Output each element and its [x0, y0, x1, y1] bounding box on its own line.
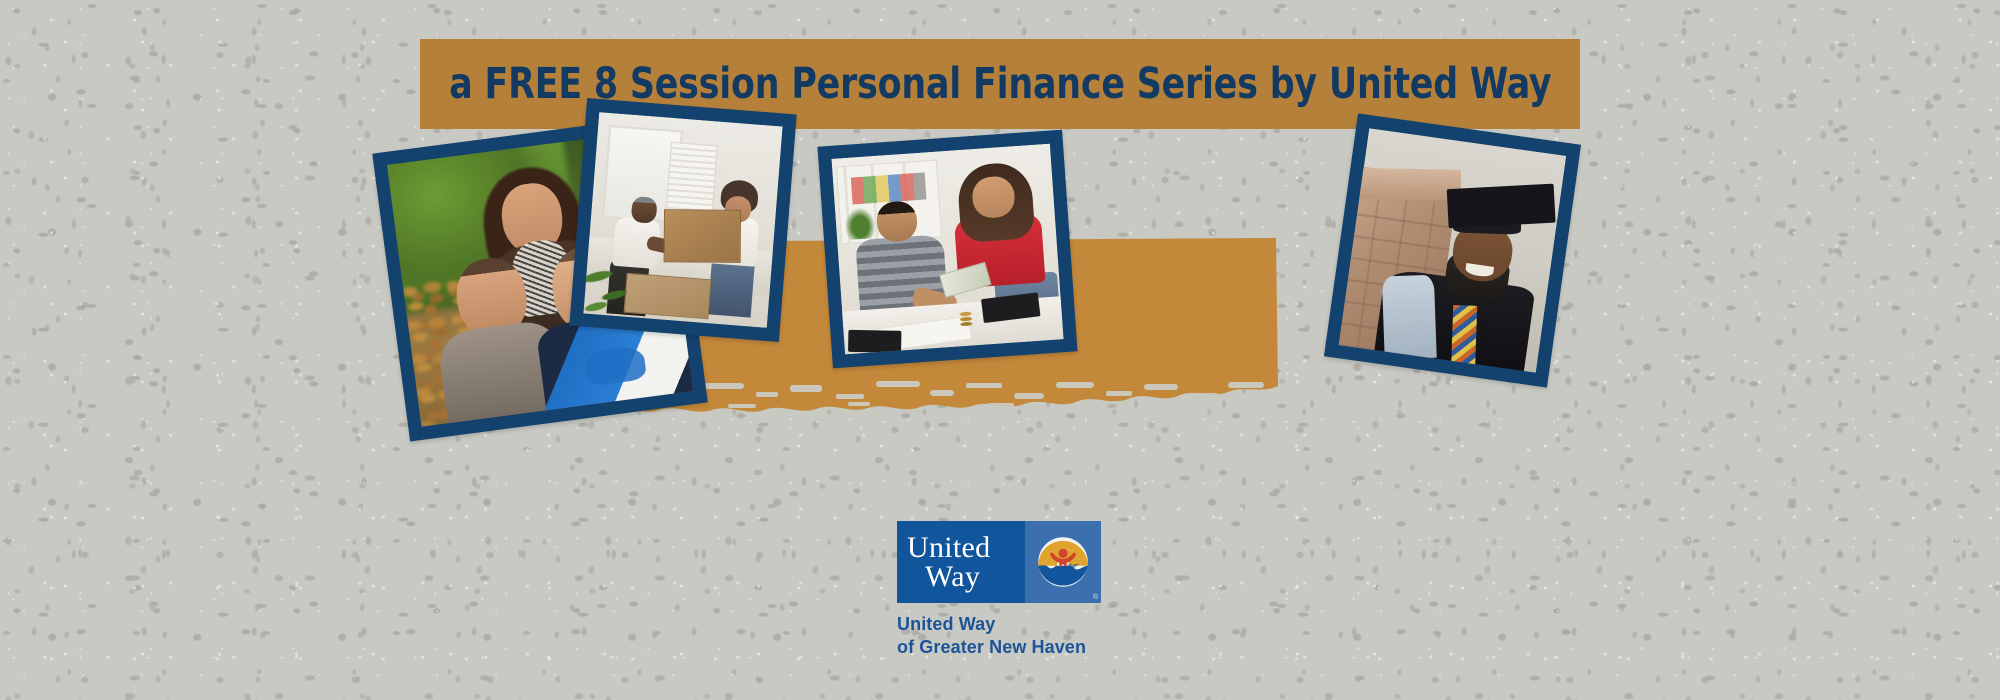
logo-wordmark: United Way	[897, 521, 1025, 603]
logo-caption-line-2: of Greater New Haven	[897, 636, 1101, 659]
photo-moving-image	[583, 112, 782, 328]
photo-budget-image	[831, 144, 1063, 355]
promotional-banner: a FREE 8 Session Personal Finance Series…	[0, 0, 2000, 700]
photo-graduate-image	[1339, 128, 1567, 373]
logo-caption: United Way of Greater New Haven	[897, 613, 1101, 659]
logo-caption-line-1: United Way	[897, 613, 1101, 636]
logo-word-united: United	[907, 533, 1025, 562]
logo-mark: United Way	[897, 521, 1101, 603]
united-way-brandmark-icon: ®	[1025, 521, 1101, 603]
united-way-logo: United Way	[897, 521, 1101, 659]
rainbow-person-hand-icon	[1032, 531, 1094, 593]
photo-moving	[569, 98, 796, 342]
logo-word-way: Way	[907, 562, 1025, 591]
photo-graduate	[1324, 114, 1581, 388]
registered-trademark-mark: ®	[1093, 594, 1098, 601]
photo-budget	[818, 130, 1078, 369]
